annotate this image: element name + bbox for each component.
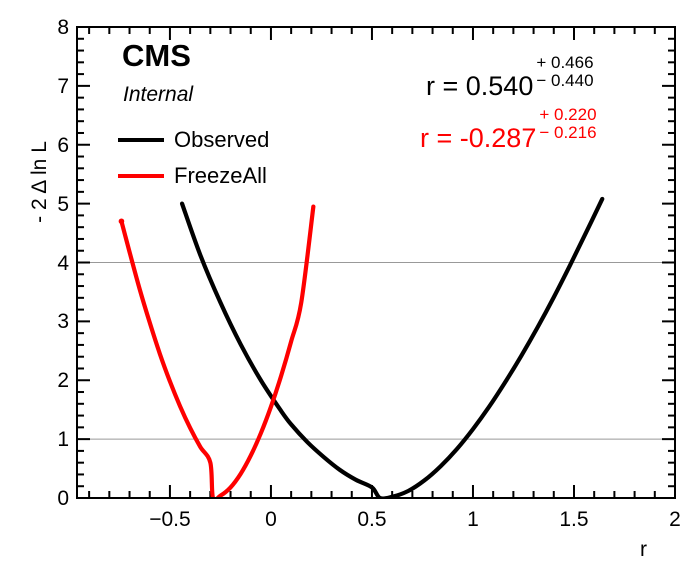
y-tick-label: 1 — [39, 428, 69, 452]
y-tick-label: 5 — [39, 193, 69, 217]
curve-freezeall — [121, 207, 313, 501]
x-axis-label: r — [640, 538, 647, 562]
result-observed-error-up: + 0.466 — [536, 54, 593, 72]
curve-observed — [182, 199, 602, 499]
x-tick-label: 0 — [241, 508, 301, 532]
legend-label-freezeall: FreezeAll — [174, 165, 267, 187]
legend-swatch-observed — [118, 138, 164, 142]
y-tick-label: 0 — [39, 487, 69, 511]
result-observed-error-down: − 0.440 — [536, 72, 593, 90]
y-tick-label: 3 — [39, 310, 69, 334]
result-observed-errors: + 0.466− 0.440 — [536, 54, 593, 90]
result-freezeall-error-down: − 0.216 — [539, 124, 596, 142]
curve-endpoint-marker — [119, 218, 125, 224]
gridlines — [77, 263, 675, 440]
y-tick-label: 6 — [39, 134, 69, 158]
x-tick-label: 0.5 — [342, 508, 402, 532]
x-tick-label: 1 — [443, 508, 503, 532]
y-tick-label: 4 — [39, 252, 69, 276]
legend-item-freezeall: FreezeAll — [118, 158, 338, 194]
data-curves — [119, 199, 603, 500]
result-freezeall-value: r = -0.287 — [420, 125, 536, 152]
result-freezeall-errors: + 0.220− 0.216 — [539, 106, 596, 142]
legend-item-observed: Observed — [118, 122, 338, 158]
x-tick-label: 1.5 — [544, 508, 604, 532]
legend: Observed FreezeAll — [118, 122, 338, 194]
y-tick-label: 8 — [39, 16, 69, 40]
x-tick-label: −0.5 — [140, 508, 200, 532]
x-tick-label: 2 — [645, 508, 696, 532]
result-freezeall: r = -0.287+ 0.220− 0.216 — [390, 88, 597, 179]
y-tick-label: 7 — [39, 75, 69, 99]
legend-label-observed: Observed — [174, 129, 269, 151]
y-tick-label: 2 — [39, 369, 69, 393]
legend-swatch-freezeall — [118, 174, 164, 178]
chart-canvas: CMS Internal Observed FreezeAll r = 0.54… — [0, 0, 696, 572]
cms-sublabel: Internal — [123, 84, 193, 105]
result-freezeall-error-up: + 0.220 — [539, 106, 596, 124]
cms-label: CMS — [122, 40, 191, 71]
